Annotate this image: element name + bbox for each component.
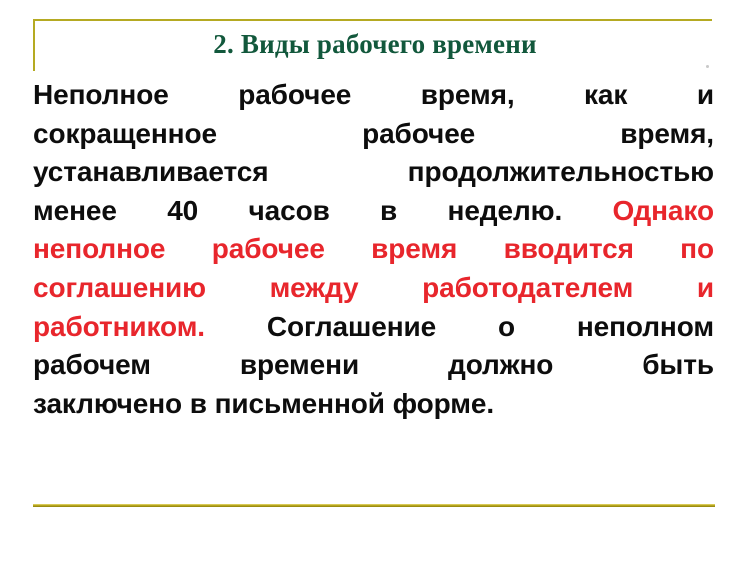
text-word: сокращенное (33, 115, 217, 154)
text-line: устанавливаетсяпродолжительностью (33, 153, 714, 192)
text-word: рабочее (212, 230, 325, 269)
slide-canvas: 2. Виды рабочего времени Неполноерабочее… (0, 0, 750, 562)
text-word: рабочее (238, 76, 351, 115)
text-word: неполном (577, 308, 714, 347)
text-word: Однако (612, 192, 714, 231)
page-title: 2. Виды рабочего времени (0, 28, 750, 60)
text-line: Неполноерабочеевремя,каки (33, 76, 714, 115)
text-word: работником. (33, 308, 205, 347)
text-word: и (697, 269, 714, 308)
text-word: Соглашение (267, 308, 436, 347)
text-word: неделю. (448, 192, 563, 231)
text-word: продолжительностью (408, 153, 714, 192)
decorative-bottom-rule (33, 504, 715, 507)
text-word: время, (620, 115, 714, 154)
text-word: Неполное (33, 76, 169, 115)
text-word: соглашению (33, 269, 206, 308)
text-line: заключено в письменной форме. (33, 385, 714, 424)
text-word: менее (33, 192, 117, 231)
text-word: время, (421, 76, 515, 115)
text-word: часов (248, 192, 329, 231)
text-line: соглашениюмеждуработодателеми (33, 269, 714, 308)
decorative-top-rule (33, 19, 712, 21)
text-word: неполное (33, 230, 165, 269)
text-word: в (380, 192, 397, 231)
text-word: заключено (33, 385, 182, 424)
text-word: быть (642, 346, 714, 385)
text-word: как (584, 76, 627, 115)
text-line: рабочемвременидолжнобыть (33, 346, 714, 385)
text-line: менее40часоввнеделю.Однако (33, 192, 714, 231)
image-speck-artifact (706, 65, 709, 68)
text-word: письменной (215, 385, 385, 424)
text-line: сокращенноерабочеевремя, (33, 115, 714, 154)
text-word: между (270, 269, 359, 308)
text-word: время (371, 230, 457, 269)
text-word: рабочее (362, 115, 475, 154)
text-line: работником.Соглашениеонеполном (33, 308, 714, 347)
text-line: неполноерабочеевремявводитсяпо (33, 230, 714, 269)
text-word: работодателем (422, 269, 633, 308)
text-word: о (498, 308, 515, 347)
text-word: рабочем (33, 346, 151, 385)
text-word: 40 (167, 192, 198, 231)
text-word: в (190, 385, 207, 424)
text-word: и (697, 76, 714, 115)
text-word: времени (240, 346, 359, 385)
body-paragraph: Неполноерабочеевремя,какисокращенноерабо… (33, 76, 714, 423)
text-word: устанавливается (33, 153, 268, 192)
text-word: форме. (393, 385, 494, 424)
text-word: по (680, 230, 714, 269)
text-word: вводится (504, 230, 634, 269)
text-word: должно (448, 346, 553, 385)
